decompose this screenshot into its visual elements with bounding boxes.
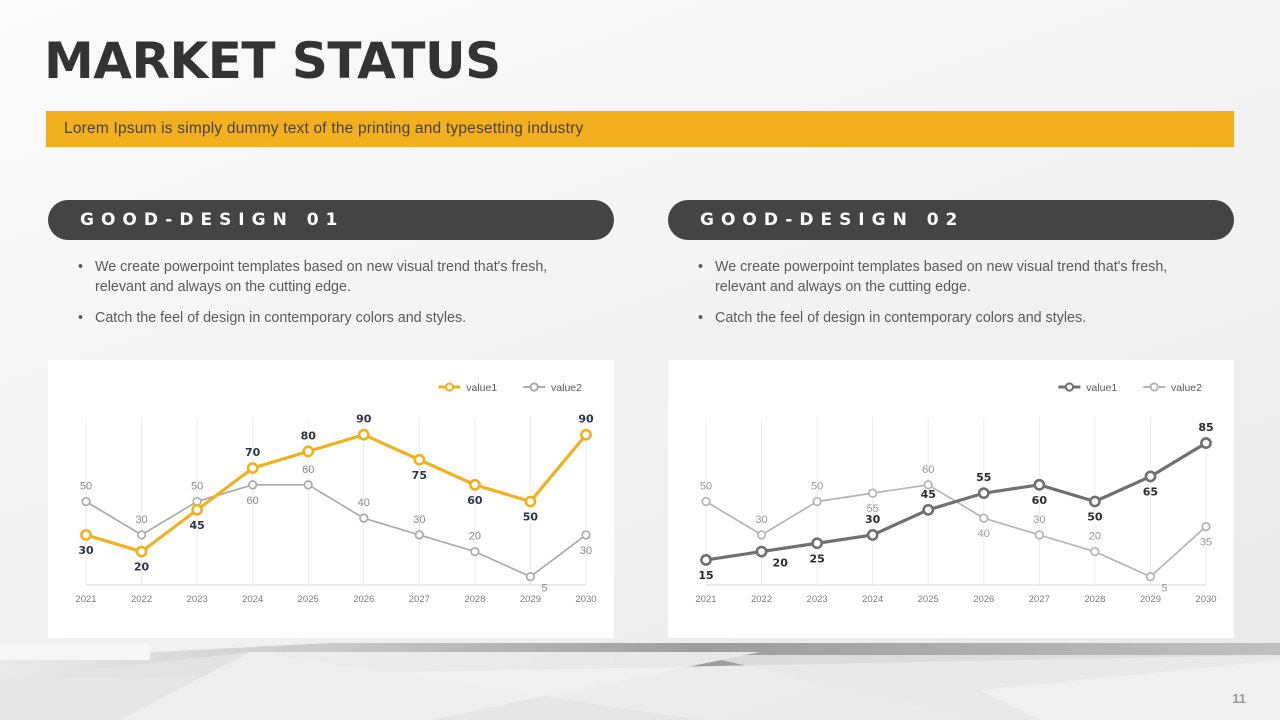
data-point[interactable] [470,480,479,489]
legend-marker [531,383,538,390]
legend-label: value2 [1171,382,1202,394]
data-label: 20 [1089,531,1101,543]
chart-card-02: value2value12021202220232024202520262027… [668,360,1234,638]
data-point[interactable] [1091,548,1099,556]
data-point[interactable] [1036,531,1044,539]
data-point[interactable] [582,531,590,539]
subtitle-text: Lorem Ipsum is simply dummy text of the … [46,120,583,138]
data-point[interactable] [979,489,988,498]
list-item: • We create powerpoint templates based o… [78,257,548,298]
data-label: 30 [78,544,94,557]
data-point[interactable] [1201,438,1210,447]
data-point[interactable] [701,555,710,564]
x-tick-label: 2022 [131,594,152,605]
legend-marker [1151,383,1158,390]
data-point[interactable] [526,497,535,506]
data-label: 30 [1033,514,1045,526]
data-point[interactable] [813,539,822,548]
x-tick-label: 2030 [575,594,596,605]
x-tick-label: 2028 [1084,594,1105,605]
subtitle-banner: Lorem Ipsum is simply dummy text of the … [46,111,1234,147]
data-point[interactable] [869,489,877,497]
chart-legend: value2value1 [438,382,582,394]
x-tick-label: 2025 [918,594,939,605]
data-point[interactable] [304,481,312,489]
legend-label: value1 [466,382,497,394]
data-point[interactable] [758,531,766,539]
data-label: 50 [191,481,203,493]
series-line [706,443,1206,560]
x-tick-label: 2028 [464,594,485,605]
data-label: 40 [358,497,370,509]
x-tick-label: 2026 [973,594,994,605]
column-right: GOOD-DESIGN 02 • We create powerpoint te… [668,200,1234,338]
list-item: • Catch the feel of design in contempora… [698,308,1168,328]
data-label: 45 [921,488,936,501]
data-point[interactable] [1202,523,1210,531]
section-header-pill-02: GOOD-DESIGN 02 [668,200,1234,240]
data-point[interactable] [82,498,90,506]
chart-series-value2: 5030506060403020530 [80,464,592,595]
x-tick-label: 2030 [1195,594,1216,605]
data-label: 50 [700,481,712,493]
data-label: 60 [922,464,934,476]
x-tick-label: 2021 [75,594,96,605]
data-point[interactable] [1090,497,1099,506]
data-label: 50 [811,481,823,493]
data-label: 85 [1198,421,1213,434]
data-point[interactable] [359,430,368,439]
chart-card-01: value2value12021202220232024202520262027… [48,360,614,638]
data-label: 25 [809,552,824,565]
data-point[interactable] [813,498,821,506]
legend-label: value1 [1086,382,1117,394]
list-item-text: We create powerpoint templates based on … [715,257,1168,298]
data-point[interactable] [249,481,257,489]
data-point[interactable] [415,455,424,464]
data-label: 5 [541,583,547,595]
data-label: 30 [865,513,881,526]
list-item-text: Catch the feel of design in contemporary… [715,308,1086,328]
x-tick-label: 2025 [298,594,319,605]
data-label: 60 [1032,494,1048,507]
data-point[interactable] [193,505,202,514]
list-item-text: We create powerpoint templates based on … [95,257,548,298]
data-label: 50 [1087,511,1103,524]
data-point[interactable] [1147,573,1155,581]
data-point[interactable] [868,530,877,539]
data-label: 75 [412,469,427,482]
data-label: 60 [467,494,483,507]
data-point[interactable] [360,514,368,522]
data-point[interactable] [980,514,988,522]
data-label: 5 [1161,583,1167,595]
data-point[interactable] [137,547,146,556]
x-tick-label: 2023 [187,594,208,605]
page-title: MARKET STATUS [44,32,501,90]
bullet-dot-icon: • [78,308,95,328]
data-label: 60 [302,464,314,476]
data-point[interactable] [416,531,424,539]
data-point[interactable] [138,531,146,539]
chart-series-value1: 30204570809075605090 [78,413,594,574]
data-label: 70 [245,446,261,459]
bullet-list-01: • We create powerpoint templates based o… [48,257,614,328]
data-label: 65 [1143,485,1158,498]
data-point[interactable] [581,430,590,439]
bullet-dot-icon: • [698,308,715,328]
slide: MARKET STATUS Lorem Ipsum is simply dumm… [0,0,1280,720]
line-chart-01[interactable]: value2value12021202220232024202520262027… [48,360,614,638]
data-point[interactable] [702,498,710,506]
series-line [86,435,586,552]
data-label: 20 [134,561,150,574]
x-tick-label: 2024 [242,594,263,605]
data-label: 30 [580,545,592,557]
data-point[interactable] [304,447,313,456]
data-point[interactable] [248,464,257,473]
legend-marker [1066,383,1073,390]
data-label: 90 [356,413,372,426]
data-point[interactable] [924,505,933,514]
data-label: 30 [413,514,425,526]
bullet-dot-icon: • [698,257,715,298]
column-left: GOOD-DESIGN 01 • We create powerpoint te… [48,200,614,338]
data-label: 50 [80,481,92,493]
x-axis-ticks: 2021202220232024202520262027202820292030 [695,594,1216,605]
x-tick-label: 2029 [520,594,541,605]
x-tick-label: 2026 [353,594,374,605]
data-label: 50 [523,511,539,524]
data-label: 45 [189,519,204,532]
x-tick-label: 2027 [1029,594,1050,605]
list-item: • We create powerpoint templates based o… [698,257,1168,298]
x-tick-label: 2023 [807,594,828,605]
series-line [86,485,586,577]
section-header-label: GOOD-DESIGN 01 [80,210,344,230]
x-tick-label: 2024 [862,594,883,605]
data-label: 15 [698,569,713,582]
data-point[interactable] [81,530,90,539]
line-chart-02[interactable]: value2value12021202220232024202520262027… [668,360,1234,638]
data-point[interactable] [1146,472,1155,481]
data-label: 35 [1200,537,1212,549]
page-number: 11 [1232,691,1246,706]
legend-label: value2 [551,382,582,394]
chart-series-value1: 15202530455560506585 [698,421,1213,582]
data-label: 30 [755,514,767,526]
bullet-list-02: • We create powerpoint templates based o… [668,257,1234,328]
data-label: 40 [978,528,990,540]
x-tick-label: 2027 [409,594,430,605]
data-label: 80 [301,429,317,442]
data-label: 90 [578,413,594,426]
chart-legend: value2value1 [1058,382,1202,394]
data-point[interactable] [1035,480,1044,489]
data-point[interactable] [757,547,766,556]
legend-marker [446,383,453,390]
x-tick-label: 2029 [1140,594,1161,605]
data-label: 60 [247,495,259,507]
data-label: 20 [469,531,481,543]
bullet-dot-icon: • [78,257,95,298]
section-header-label: GOOD-DESIGN 02 [700,210,964,230]
data-label: 20 [773,557,789,570]
section-header-pill-01: GOOD-DESIGN 01 [48,200,614,240]
data-label: 30 [135,514,147,526]
x-axis-ticks: 2021202220232024202520262027202820292030 [75,594,596,605]
x-tick-label: 2022 [751,594,772,605]
data-label: 55 [976,471,991,484]
list-item: • Catch the feel of design in contempora… [78,308,548,328]
list-item-text: Catch the feel of design in contemporary… [95,308,466,328]
data-point[interactable] [527,573,535,581]
data-point[interactable] [471,548,479,556]
x-tick-label: 2021 [695,594,716,605]
